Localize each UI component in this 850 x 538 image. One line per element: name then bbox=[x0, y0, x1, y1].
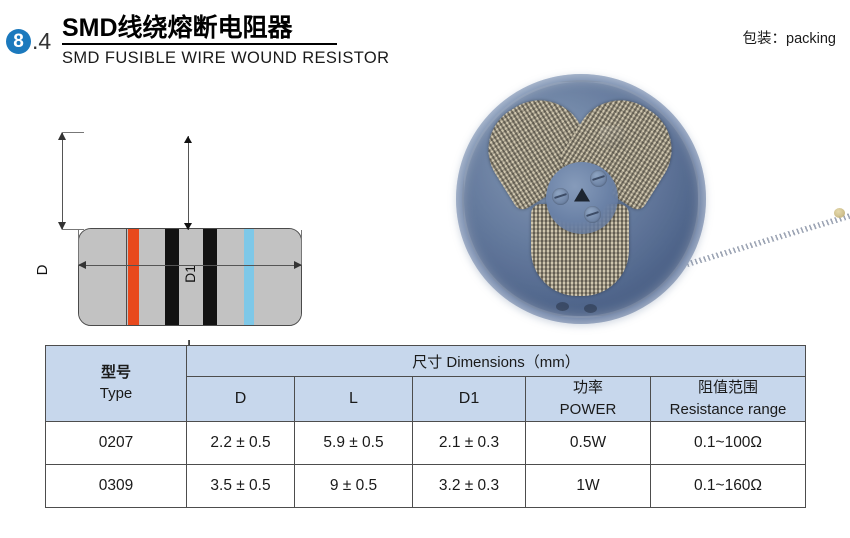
resistor-endcap-left bbox=[78, 228, 127, 326]
hub-center-hole bbox=[574, 188, 590, 206]
title-block: SMD线绕熔断电阻器 SMD FUSIBLE WIRE WOUND RESIST… bbox=[62, 14, 482, 68]
band-black-2 bbox=[203, 228, 217, 326]
dim-l-arrow-left bbox=[78, 261, 86, 269]
dim-d1-line bbox=[188, 136, 189, 230]
band-lightblue bbox=[244, 228, 254, 326]
header-dimensions-label: 尺寸 Dimensions（mm） bbox=[412, 354, 580, 371]
cell-d: 2.2 ± 0.5 bbox=[187, 421, 295, 464]
dim-d-line bbox=[62, 132, 63, 230]
dim-l-arrow-right bbox=[294, 261, 302, 269]
band-orange bbox=[128, 228, 139, 326]
specification-table: 型号 Type 尺寸 Dimensions（mm） D L D1 功率 bbox=[45, 345, 806, 508]
section-number-suffix: .4 bbox=[32, 28, 51, 55]
cell-d: 3.5 ± 0.5 bbox=[187, 464, 295, 507]
cell-l: 9 ± 0.5 bbox=[295, 464, 413, 507]
reel-notch-1 bbox=[556, 302, 569, 311]
packing-label: 包装：packing bbox=[743, 27, 836, 48]
page-title-en: SMD FUSIBLE WIRE WOUND RESISTOR bbox=[62, 49, 482, 68]
cell-power: 1W bbox=[526, 464, 651, 507]
section-number: 8 .4 bbox=[6, 28, 51, 55]
cell-resistance: 0.1~100Ω bbox=[651, 421, 806, 464]
reel-hub bbox=[546, 162, 618, 234]
header-cell-resistance: 阻值范围 Resistance range bbox=[651, 377, 806, 422]
header-d-label: D bbox=[235, 390, 247, 407]
cell-resistance: 0.1~160Ω bbox=[651, 464, 806, 507]
dim-d1-label: D1 bbox=[182, 264, 198, 284]
header-cell-d1: D1 bbox=[413, 377, 526, 422]
header-cell-d: D bbox=[187, 377, 295, 422]
dim-d1-arrow-top bbox=[184, 136, 192, 143]
page-root: 8 .4 SMD线绕熔断电阻器 SMD FUSIBLE WIRE WOUND R… bbox=[0, 0, 850, 538]
header-resistance-en: Resistance range bbox=[651, 399, 805, 421]
hub-screw-top-right bbox=[590, 170, 607, 187]
reel-disc bbox=[456, 74, 706, 324]
table-row: 0309 3.5 ± 0.5 9 ± 0.5 3.2 ± 0.3 1W 0.1~… bbox=[46, 464, 806, 507]
header-type-cn: 型号 bbox=[46, 362, 186, 384]
cell-d1: 2.1 ± 0.3 bbox=[413, 421, 526, 464]
title-underline bbox=[62, 43, 337, 45]
table-header-row-1: 型号 Type 尺寸 Dimensions（mm） bbox=[46, 346, 806, 377]
header-cell-dimensions: 尺寸 Dimensions（mm） bbox=[187, 346, 806, 377]
band-black-1 bbox=[165, 228, 179, 326]
cell-type: 0309 bbox=[46, 464, 187, 507]
dim-d-label: D bbox=[34, 262, 51, 277]
reel-emboss-mark bbox=[600, 126, 624, 148]
header-l-label: L bbox=[349, 390, 358, 407]
header-resistance-cn: 阻值范围 bbox=[651, 377, 805, 399]
header-power-en: POWER bbox=[526, 399, 650, 421]
header-power-cn: 功率 bbox=[526, 377, 650, 399]
section-number-circle: 8 bbox=[6, 29, 31, 54]
hub-screw-left bbox=[552, 188, 569, 205]
cell-type: 0207 bbox=[46, 421, 187, 464]
resistor-endcap-right bbox=[253, 228, 302, 326]
resistor-drawing: D D1 L bbox=[0, 96, 360, 296]
header-cell-power: 功率 POWER bbox=[526, 377, 651, 422]
packing-reel-photo bbox=[436, 62, 850, 312]
dim-l-line bbox=[78, 265, 302, 266]
cell-d1: 3.2 ± 0.3 bbox=[413, 464, 526, 507]
tape-strip-tip bbox=[834, 208, 845, 218]
reel-notch-2 bbox=[584, 304, 597, 313]
hub-screw-bottom-right bbox=[584, 206, 601, 223]
dim-d1-arrow-bottom bbox=[184, 223, 192, 230]
cell-l: 5.9 ± 0.5 bbox=[295, 421, 413, 464]
header-type-en: Type bbox=[46, 383, 186, 405]
dim-d-arrow-top bbox=[58, 132, 66, 140]
header-cell-l: L bbox=[295, 377, 413, 422]
cell-power: 0.5W bbox=[526, 421, 651, 464]
header-cell-type: 型号 Type bbox=[46, 346, 187, 422]
dim-d-ext-top bbox=[62, 132, 84, 133]
table-row: 0207 2.2 ± 0.5 5.9 ± 0.5 2.1 ± 0.3 0.5W … bbox=[46, 421, 806, 464]
header-d1-label: D1 bbox=[459, 390, 479, 407]
page-title-cn: SMD线绕熔断电阻器 bbox=[62, 14, 482, 42]
